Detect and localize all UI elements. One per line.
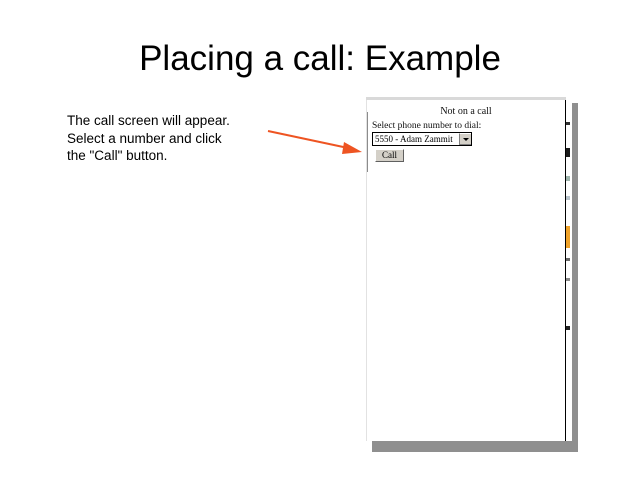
embedded-app-screenshot: Not on a call Select phone number to dia…: [366, 97, 572, 455]
scrollbar-artifact: [566, 226, 570, 248]
body-text-block: The call screen will appear. Select a nu…: [67, 112, 277, 165]
body-text-line: The call screen will appear.: [67, 112, 277, 130]
scrollbar-artifact: [566, 326, 570, 330]
page-title: Placing a call: Example: [0, 38, 640, 80]
phone-number-field-label: Select phone number to dial:: [372, 121, 481, 131]
chevron-down-icon[interactable]: [459, 133, 471, 145]
body-text-line: the "Call" button.: [67, 147, 277, 165]
call-button[interactable]: Call: [375, 149, 404, 162]
arrow-head: [342, 142, 362, 154]
scrollbar-artifact: [566, 148, 570, 157]
page-left-hairline: [367, 112, 368, 172]
phone-number-dropdown[interactable]: 5550 - Adam Zammit: [372, 132, 472, 146]
scrollbar-artifact: [566, 278, 570, 281]
phone-number-selected-value: 5550 - Adam Zammit: [373, 133, 459, 145]
scrollbar-artifact: [566, 122, 570, 125]
scrollbar-artifact: [566, 258, 570, 261]
capture-right-chrome: [572, 103, 578, 452]
slide-canvas: Placing a call: Example The call screen …: [0, 0, 640, 480]
scrollbar-artifact: [566, 196, 570, 200]
arrow-shaft: [268, 131, 348, 148]
call-status-text: Not on a call: [367, 106, 565, 117]
body-text-line: Select a number and click: [67, 130, 277, 148]
capture-status-bar: [372, 441, 578, 452]
scrollbar-artifact: [566, 176, 570, 181]
call-screen-page: Not on a call Select phone number to dia…: [366, 100, 565, 441]
